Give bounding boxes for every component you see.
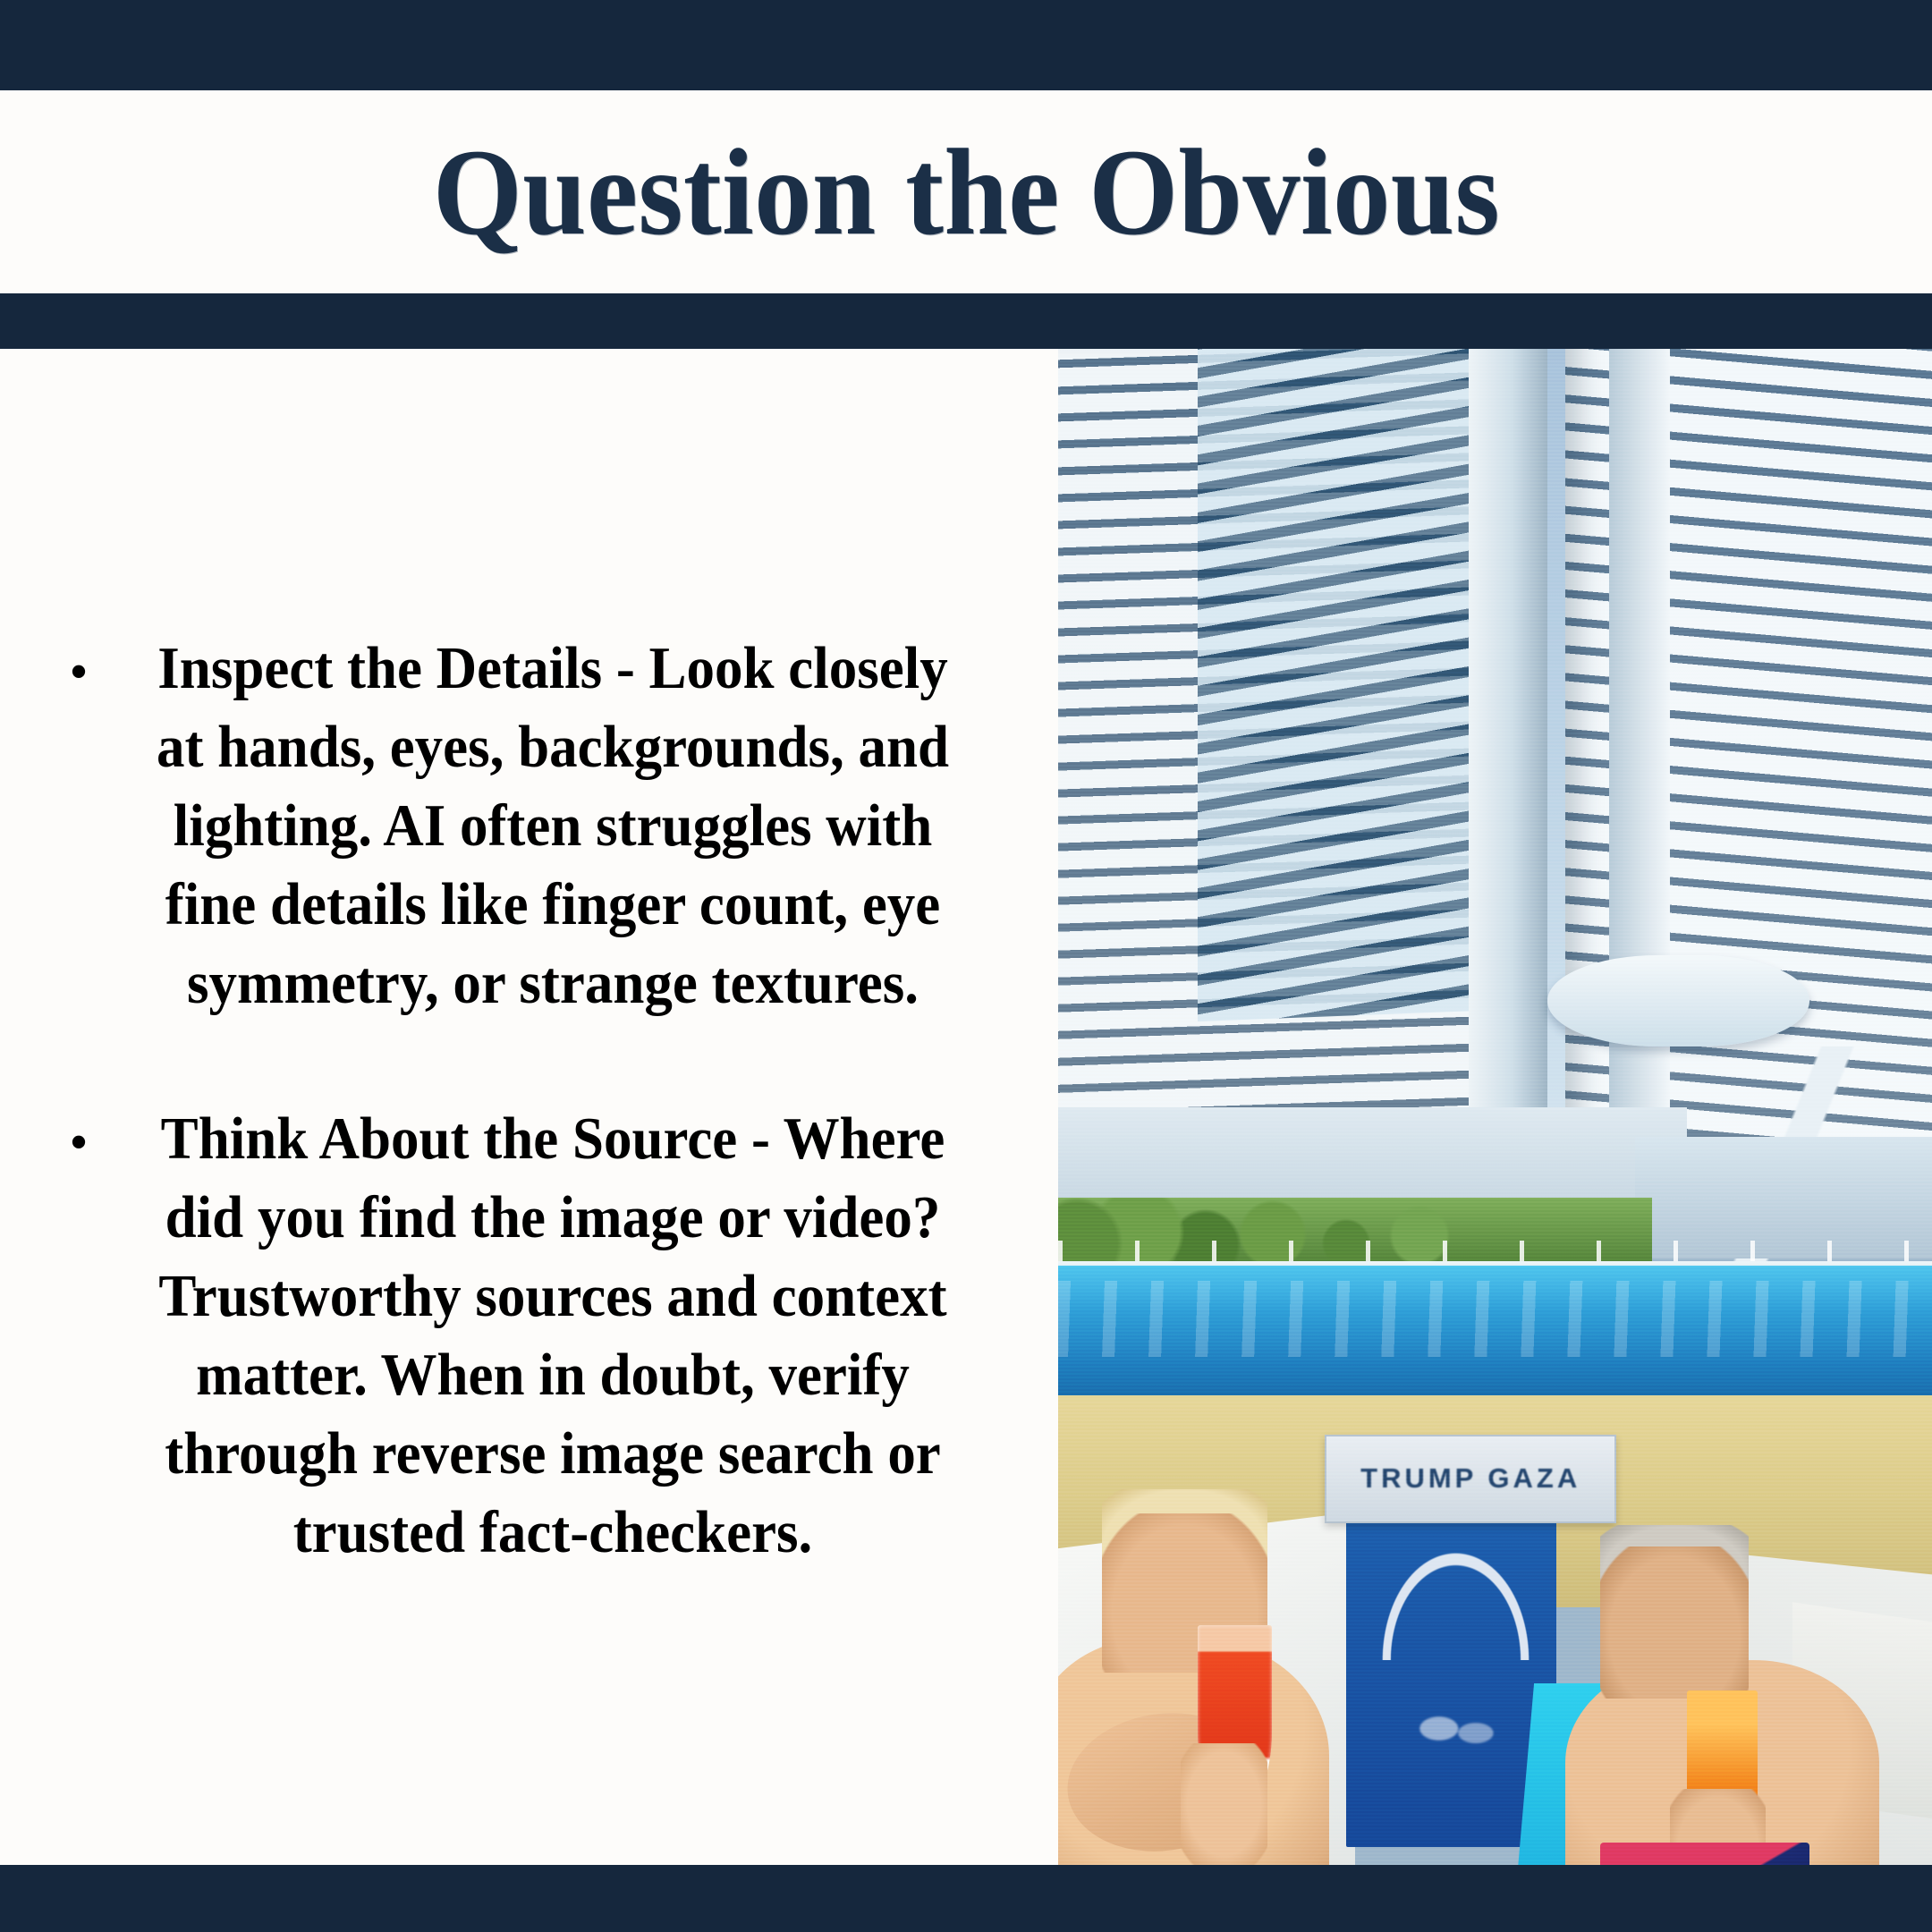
title-zone: Question the Obvious: [0, 90, 1932, 293]
sign-label: TRUMP GAZA: [1360, 1462, 1580, 1495]
top-accent-band: [0, 0, 1932, 90]
title-underline-band: [0, 293, 1932, 349]
right-figure-head: [1600, 1546, 1749, 1699]
list-item: • Inspect the Details - Look closely at …: [41, 629, 989, 1022]
bullet-marker-icon: •: [41, 1099, 116, 1182]
banner-script: [1390, 1683, 1513, 1775]
right-figure-swim-trunks: [1600, 1843, 1809, 1865]
list-item: • Think About the Source - Where did you…: [41, 1099, 989, 1572]
left-tower-facade: [1198, 349, 1478, 1021]
skybridge: [1547, 955, 1809, 1046]
left-tower-edge: [1469, 349, 1547, 1213]
poolside-photo: TRUMP GAZA: [1058, 349, 1932, 1865]
right-tower-edge: [1609, 349, 1670, 1228]
bullet-text: Inspect the Details - Look closely at ha…: [142, 629, 962, 1022]
page-title: Question the Obvious: [432, 131, 1499, 254]
slide-canvas: Question the Obvious • Inspect the Detai…: [0, 0, 1932, 1932]
bullet-text: Think About the Source - Where did you f…: [142, 1099, 962, 1572]
banner-swoosh: [1373, 1539, 1539, 1661]
trump-gaza-sign: TRUMP GAZA: [1325, 1435, 1616, 1523]
bullet-list: • Inspect the Details - Look closely at …: [41, 358, 989, 1843]
bottom-accent-band: [0, 1865, 1932, 1932]
pool-shimmer: [1058, 1281, 1932, 1357]
bullet-marker-icon: •: [41, 629, 116, 711]
left-figure-hand: [1181, 1743, 1268, 1865]
